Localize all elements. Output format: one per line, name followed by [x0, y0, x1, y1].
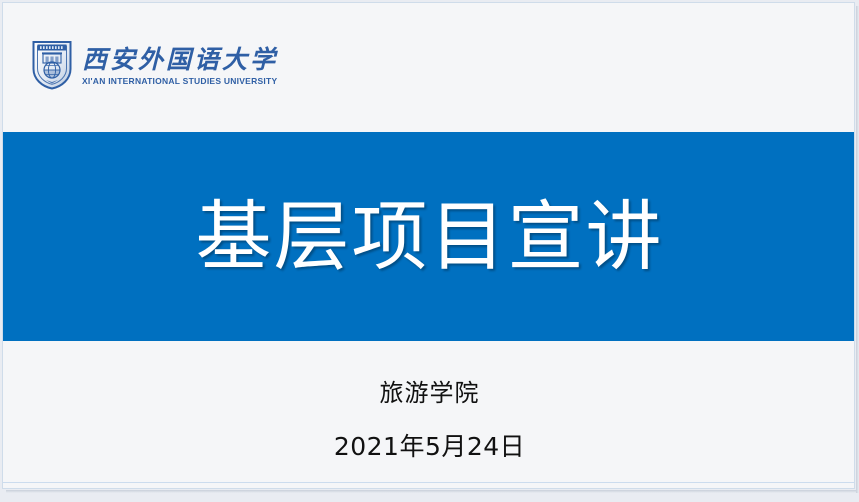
logo-english-name: XI'AN INTERNATIONAL STUDIES UNIVERSITY — [82, 76, 278, 87]
title-band: 基层项目宣讲 — [3, 132, 855, 341]
university-crest-icon — [31, 39, 73, 91]
slide-title: 基层项目宣讲 — [196, 199, 664, 275]
organization-name: 旅游学院 — [380, 379, 480, 407]
presentation-date: 2021年5月24日 — [334, 432, 525, 461]
slide-footer: 旅游学院 2021年5月24日 — [3, 341, 855, 482]
slide-header: 西安外国语大学 XI'AN INTERNATIONAL STUDIES UNIV… — [3, 3, 855, 132]
logo-wordmark: 西安外国语大学 XI'AN INTERNATIONAL STUDIES UNIV… — [82, 43, 278, 87]
footer-divider — [3, 482, 855, 483]
slide-canvas: 西安外国语大学 XI'AN INTERNATIONAL STUDIES UNIV… — [2, 2, 855, 489]
university-logo: 西安外国语大学 XI'AN INTERNATIONAL STUDIES UNIV… — [31, 39, 278, 91]
logo-chinese-name: 西安外国语大学 — [82, 45, 278, 75]
slide-shadow-bottom — [6, 490, 856, 493]
presentation-slide: 西安外国语大学 XI'AN INTERNATIONAL STUDIES UNIV… — [0, 0, 859, 502]
